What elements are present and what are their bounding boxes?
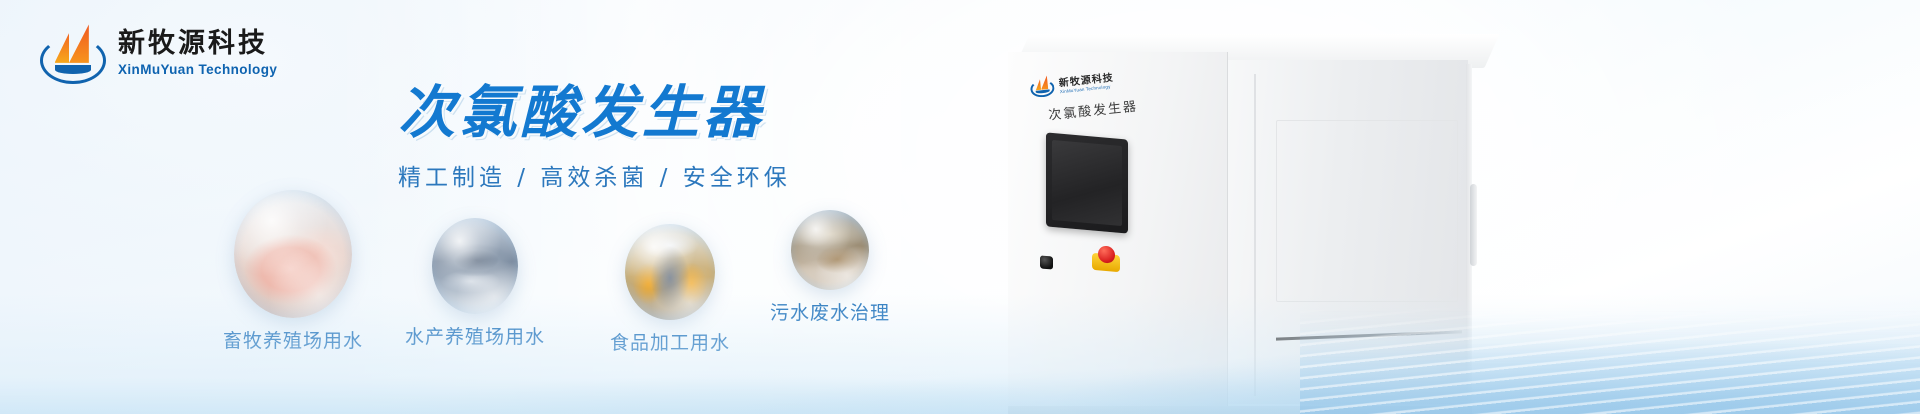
list-item-label: 畜牧养殖场用水 — [218, 326, 368, 353]
emergency-stop-knob[interactable] — [1098, 245, 1115, 263]
list-item-label: 水产养殖场用水 — [400, 322, 550, 349]
list-item-label: 污水废水治理 — [760, 298, 900, 325]
machine-brand-text: 新牧源科技 XinMuYuan Technology — [1058, 69, 1115, 95]
aquaculture-bubble-icon — [432, 218, 518, 314]
list-item[interactable]: 水产养殖场用水 — [400, 218, 550, 349]
list-item[interactable]: 污水废水治理 — [760, 210, 900, 325]
sailboat-icon — [1029, 74, 1055, 98]
wastewater-bubble-icon — [791, 210, 869, 290]
product-hero-banner: 新牧源科技 XinMuYuan Technology 次氯酸发生器 精工制造 /… — [0, 0, 1920, 414]
machine-access-door — [1276, 120, 1458, 302]
food-processing-bubble-icon — [625, 224, 715, 320]
product-machine-image: 新牧源科技 XinMuYuan Technology 次氯酸发生器 — [1008, 34, 1528, 414]
hmi-screen-surface[interactable] — [1052, 140, 1122, 226]
list-item-label: 食品加工用水 — [590, 328, 750, 355]
black-push-button[interactable] — [1040, 255, 1053, 269]
emergency-stop-button[interactable] — [1092, 245, 1120, 273]
list-item[interactable]: 食品加工用水 — [590, 224, 750, 355]
machine-base — [1008, 406, 1472, 414]
list-item[interactable]: 畜牧养殖场用水 — [218, 190, 368, 353]
machine-door-handle[interactable] — [1470, 184, 1477, 266]
application-bubble-list: 畜牧养殖场用水 水产养殖场用水 食品加工用水 污水废水治理 — [0, 0, 1000, 414]
livestock-bubble-icon — [234, 190, 352, 318]
machine-panel-seam — [1254, 74, 1256, 396]
hmi-touchscreen[interactable] — [1046, 132, 1128, 233]
